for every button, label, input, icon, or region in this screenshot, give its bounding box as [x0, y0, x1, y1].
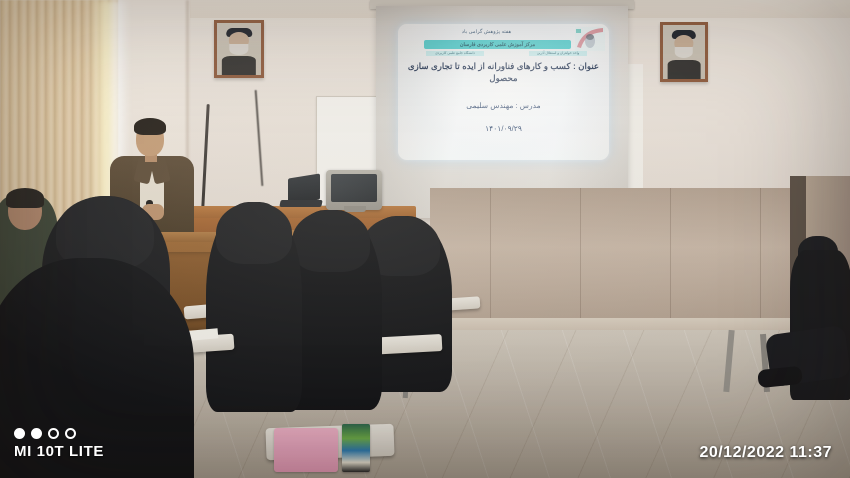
watermark-dot-hollow	[65, 428, 76, 439]
slide-subline-right-text: واحد خواهران و استقلال آذرین	[529, 51, 587, 56]
photo-timestamp: 20/12/2022 11:37	[699, 444, 832, 462]
color-booklet	[342, 424, 370, 472]
portrait-beard	[675, 47, 693, 59]
framed-portrait-right	[660, 22, 708, 82]
marble-shading	[430, 188, 850, 336]
portrait-robe	[222, 56, 256, 75]
slide-subline-right: واحد خواهران و استقلال آذرین	[529, 51, 587, 56]
slide-date: ۱۴۰۱/۰۹/۲۹	[404, 124, 603, 133]
portrait-robe	[668, 60, 701, 79]
slide-emblem-icon	[575, 27, 605, 51]
slide-title: عنوان : کسب و کارهای فناورانه از ایده تا…	[404, 60, 603, 84]
crt-monitor-stand	[344, 206, 366, 212]
camera-model-label: MI 10T LITE	[14, 443, 104, 460]
camera-watermark-dots	[14, 428, 104, 439]
watermark-dot-filled	[31, 428, 42, 439]
projected-slide: هفته پژوهش گرامی باد مرکز آموزش علمی کار…	[398, 24, 609, 160]
slide-header-line: هفته پژوهش گرامی باد	[398, 29, 575, 35]
laptop-base	[279, 200, 322, 207]
speaker-hair	[134, 118, 166, 135]
slide-subline-left: دانشگاه جامع علمی کاربردی	[426, 51, 484, 56]
camera-watermark: MI 10T LITE	[14, 428, 104, 460]
portrait-image	[663, 25, 705, 79]
portrait-beard	[229, 44, 248, 55]
pink-folder	[274, 428, 338, 472]
audience-member-head	[292, 210, 370, 272]
watermark-dot-filled	[14, 428, 25, 439]
watermark-dot-hollow	[48, 428, 59, 439]
slide-institution-banner: مرکز آموزش علمی کاربردی فارسان	[424, 40, 571, 49]
audience-member-head	[216, 202, 292, 264]
portrait-image	[217, 23, 261, 75]
slide-presenter: مدرس : مهندس سلیمی	[404, 101, 603, 110]
framed-portrait-left	[214, 20, 264, 78]
slide-subline-left-text: دانشگاه جامع علمی کاربردی	[426, 51, 484, 56]
photograph: هفته پژوهش گرامی باد مرکز آموزش علمی کار…	[0, 0, 850, 478]
slide-institution-text: مرکز آموزش علمی کاربردی فارسان	[460, 42, 535, 48]
crt-monitor-screen	[331, 174, 377, 202]
audience-member-hair	[6, 188, 44, 208]
